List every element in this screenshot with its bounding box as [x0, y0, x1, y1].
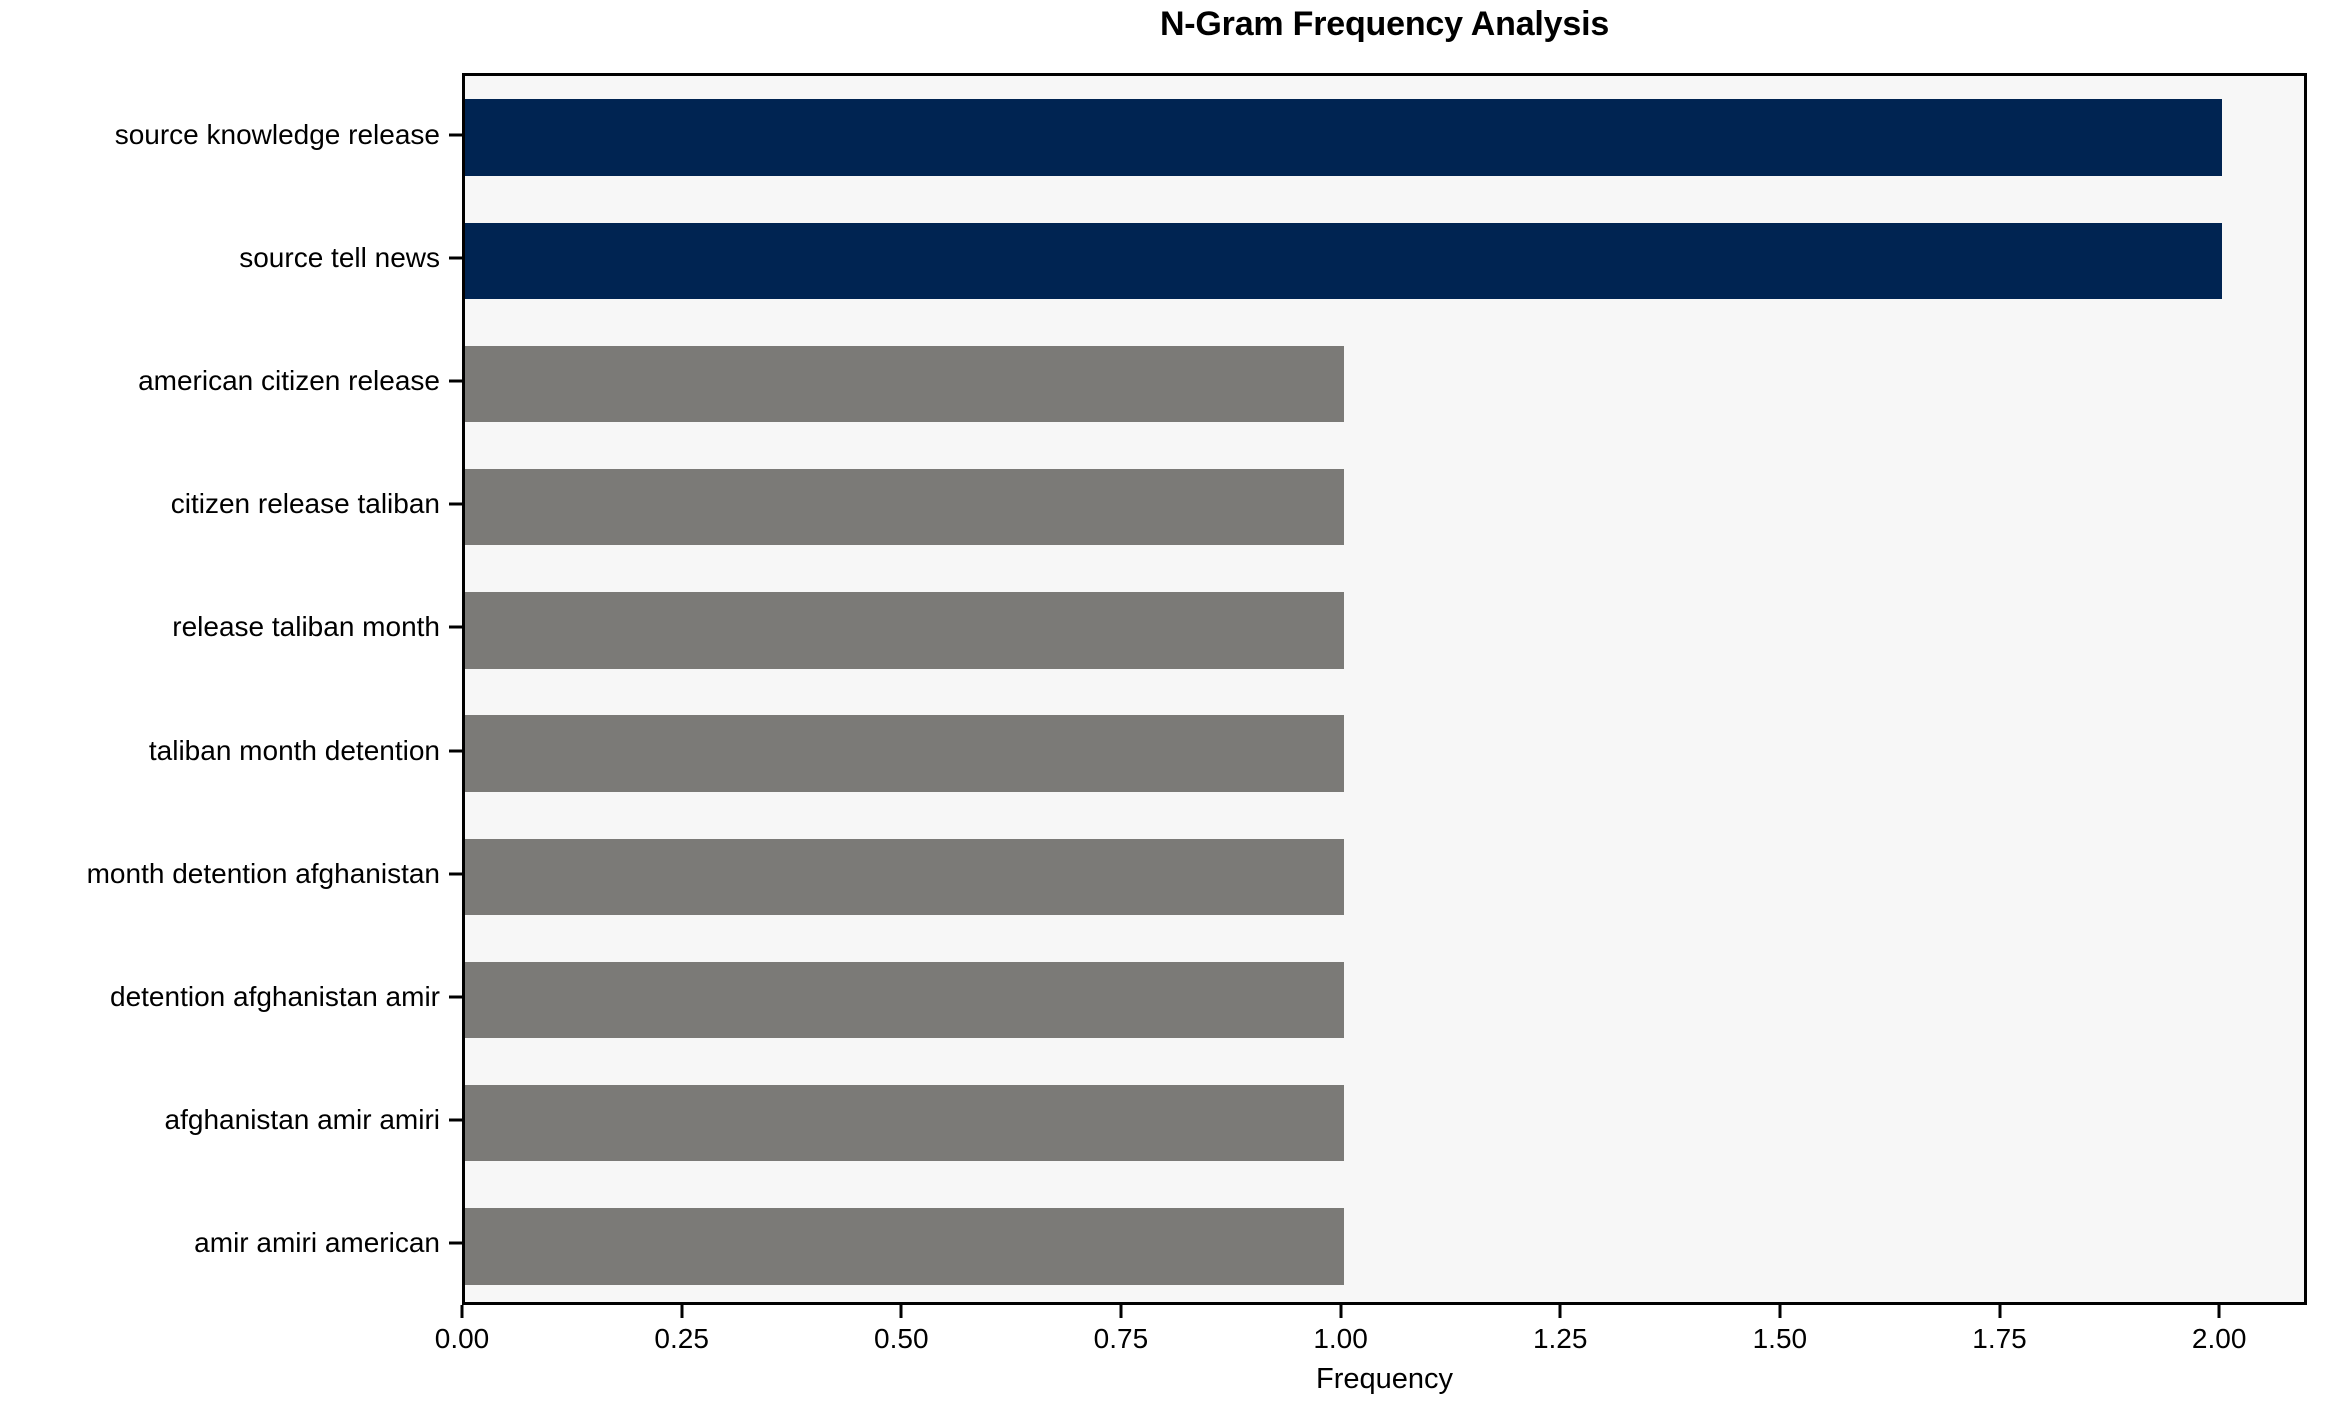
y-tick-mark: [449, 256, 462, 259]
y-tick-mark: [449, 1242, 462, 1245]
y-tick-label: taliban month detention: [149, 735, 440, 767]
x-tick-mark: [1119, 1305, 1122, 1318]
y-tick-label: source knowledge release: [115, 119, 440, 151]
y-tick-label: release taliban month: [172, 611, 440, 643]
y-tick-label: source tell news: [239, 242, 440, 274]
y-tick-mark: [449, 872, 462, 875]
plot-area: [462, 73, 2307, 1305]
bar: [465, 346, 1344, 422]
y-tick-mark: [449, 1119, 462, 1122]
y-tick-mark: [449, 749, 462, 752]
x-tick-mark: [900, 1305, 903, 1318]
bar: [465, 99, 2222, 175]
bar: [465, 839, 1344, 915]
bar: [465, 592, 1344, 668]
x-tick-label: 2.00: [2192, 1323, 2247, 1355]
bar: [465, 715, 1344, 791]
x-axis-title: Frequency: [462, 1363, 2307, 1396]
x-tick-mark: [461, 1305, 464, 1318]
x-tick-label: 0.50: [874, 1323, 929, 1355]
y-tick-mark: [449, 503, 462, 506]
bar: [465, 1208, 1344, 1284]
x-tick-mark: [680, 1305, 683, 1318]
y-tick-mark: [449, 996, 462, 999]
y-tick-label: american citizen release: [138, 365, 440, 397]
y-tick-label: detention afghanistan amir: [110, 981, 440, 1013]
x-tick-mark: [1339, 1305, 1342, 1318]
x-tick-label: 1.50: [1753, 1323, 1808, 1355]
x-tick-mark: [1998, 1305, 2001, 1318]
chart-title: N-Gram Frequency Analysis: [462, 4, 2307, 44]
y-tick-label: citizen release taliban: [171, 488, 440, 520]
x-tick-label: 1.00: [1313, 1323, 1368, 1355]
chart-figure: N-Gram Frequency Analysis source knowled…: [0, 0, 2340, 1414]
x-tick-label: 0.00: [435, 1323, 490, 1355]
bar: [465, 1085, 1344, 1161]
bar: [465, 962, 1344, 1038]
x-tick-label: 1.75: [1972, 1323, 2027, 1355]
y-tick-label: month detention afghanistan: [87, 858, 440, 890]
x-tick-mark: [2218, 1305, 2221, 1318]
y-tick-label: amir amiri american: [194, 1227, 440, 1259]
x-tick-label: 1.25: [1533, 1323, 1588, 1355]
bar: [465, 469, 1344, 545]
x-tick-label: 0.25: [654, 1323, 709, 1355]
bar: [465, 223, 2222, 299]
y-axis-labels: source knowledge releasesource tell news…: [0, 73, 462, 1305]
y-tick-mark: [449, 133, 462, 136]
y-tick-mark: [449, 626, 462, 629]
x-tick-mark: [1559, 1305, 1562, 1318]
y-tick-mark: [449, 380, 462, 383]
x-tick-label: 0.75: [1094, 1323, 1149, 1355]
y-tick-label: afghanistan amir amiri: [165, 1104, 440, 1136]
bars-layer: [465, 76, 2304, 1302]
x-tick-mark: [1778, 1305, 1781, 1318]
